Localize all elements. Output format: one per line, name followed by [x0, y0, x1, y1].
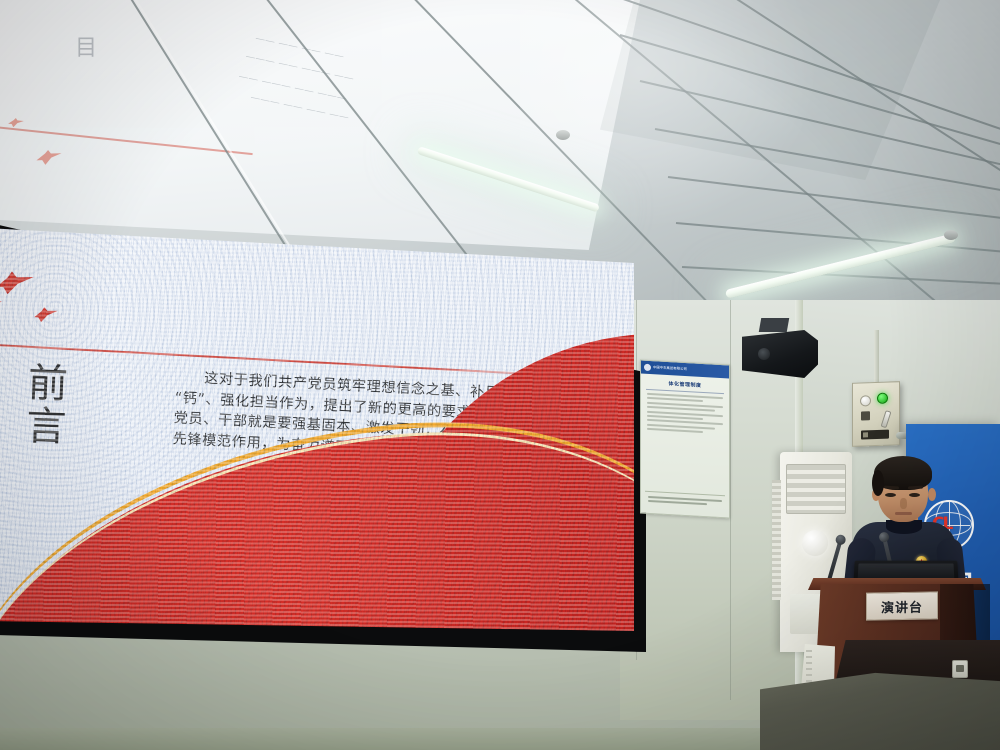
- light-end-cap: [556, 130, 570, 140]
- speaker-mount-bracket: [759, 318, 789, 332]
- speaker-cone: [758, 348, 770, 360]
- electrical-conduit: [874, 330, 879, 386]
- notice-header-org: 中国中车集团有限公司: [653, 366, 687, 372]
- presenter-hair: [874, 456, 932, 490]
- presenter-eye: [909, 493, 920, 497]
- wall-notice-board[interactable]: 中国中车集团有限公司 体化管理制度: [640, 359, 730, 518]
- presenter-collar: [886, 520, 922, 534]
- screen-scanlines: [0, 225, 634, 643]
- control-switch-lever[interactable]: [881, 410, 892, 428]
- notice-footer: [645, 491, 725, 512]
- control-meter: [861, 430, 889, 440]
- conference-room-scene: —— —— —— —— ——— —— ——— —— —— ——— —— ——— …: [0, 0, 1000, 750]
- indicator-light-white[interactable]: [860, 395, 871, 406]
- slide: 前 言 这对于我们共产党员筑牢理想信念之基、补足精神之 “钙”、强化担当作为，提…: [0, 225, 634, 643]
- screen-reflection-on-ceiling: —— —— —— —— ——— —— ——— —— —— ——— —— ——— …: [0, 0, 640, 250]
- notice-header: 中国中车集团有限公司: [641, 361, 729, 379]
- presenter-mouth: [895, 512, 912, 515]
- podium-sign: 演讲台: [866, 591, 938, 620]
- control-button-black[interactable]: [861, 411, 870, 420]
- light-end-cap-2: [944, 230, 958, 240]
- podium-sign-label: 演讲台: [881, 596, 923, 616]
- electrical-control-box[interactable]: [852, 381, 900, 447]
- presenter-ear: [928, 488, 936, 501]
- ac-display-circle: [802, 530, 828, 556]
- wall-speaker-icon: [742, 330, 818, 378]
- led-screen[interactable]: 前 言 这对于我们共产党员筑牢理想信念之基、补足精神之 “钙”、强化担当作为，提…: [0, 225, 634, 643]
- indicator-light-green[interactable]: [877, 393, 888, 404]
- company-logo-icon: [644, 364, 651, 371]
- wall-socket: [952, 660, 968, 678]
- presenter-eye: [885, 493, 896, 497]
- ac-side-vent: [772, 480, 781, 600]
- ac-grille: [786, 464, 846, 514]
- notice-text-line: [647, 428, 703, 433]
- presenter-nose: [900, 498, 907, 509]
